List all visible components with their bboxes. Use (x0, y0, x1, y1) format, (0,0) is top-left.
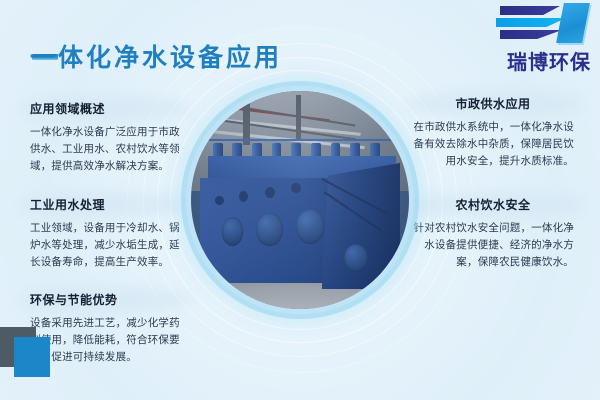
block-heading: 市政供水应用 (412, 95, 574, 112)
logo-bar-bottom (500, 30, 562, 39)
water-treatment-equipment-photo (191, 91, 409, 309)
slide-canvas: 一体化净水设备应用 瑞博环保 应用领域概述 一体化净水设备广泛应用于市政供水、工… (0, 0, 600, 400)
block-heading: 应用领域概述 (30, 100, 190, 117)
block-heading: 工业用水处理 (30, 196, 190, 213)
photo-shading-overlay (191, 91, 409, 309)
brand-name: 瑞博环保 (478, 46, 594, 75)
center-photo-frame (186, 86, 414, 314)
logo-tile-shape (556, 3, 590, 43)
text-block-application-overview: 应用领域概述 一体化净水设备广泛应用于市政供水、工业用水、农村饮水等领域，提供高… (30, 100, 190, 175)
logo-bar-top (500, 6, 560, 15)
block-body: 设备采用先进工艺，减少化学药剂使用，降低能耗，符合环保要求，促进可持续发展。 (30, 315, 190, 366)
page-title: 一体化净水设备应用 (30, 38, 282, 74)
text-block-rural-drinking-safety: 农村饮水安全 针对农村饮水安全问题，一体化净水设备提供便捷、经济的净水方案，保障… (412, 196, 574, 271)
block-body: 工业领域，设备用于冷却水、锅炉水等处理，减少水垢生成，延长设备寿命，提高生产效率… (30, 220, 190, 271)
ruibo-huanbao-logo-mark-icon (478, 4, 594, 44)
block-body: 针对农村饮水安全问题，一体化净水设备提供便捷、经济的净水方案，保障农民健康饮水。 (412, 220, 574, 271)
block-body: 一体化净水设备广泛应用于市政供水、工业用水、农村饮水等领域，提供高效净水解决方案… (30, 124, 190, 175)
logo-bar-middle (496, 18, 566, 27)
text-block-eco-energy: 环保与节能优势 设备采用先进工艺，减少化学药剂使用，降低能耗，符合环保要求，促进… (30, 291, 190, 366)
block-heading: 农村饮水安全 (412, 196, 574, 213)
decorative-square-blue (14, 337, 50, 377)
text-block-municipal-supply: 市政供水应用 在市政供水系统中，一体化净水设备有效去除水中杂质，保障居民饮用水安… (412, 95, 574, 170)
block-heading: 环保与节能优势 (30, 291, 190, 308)
text-block-industrial-water: 工业用水处理 工业领域，设备用于冷却水、锅炉水等处理，减少水垢生成，延长设备寿命… (30, 196, 190, 271)
block-body: 在市政供水系统中，一体化净水设备有效去除水中杂质，保障居民饮用水安全，提升水质标… (412, 119, 574, 170)
brand-logo[interactable]: 瑞博环保 (478, 4, 594, 74)
